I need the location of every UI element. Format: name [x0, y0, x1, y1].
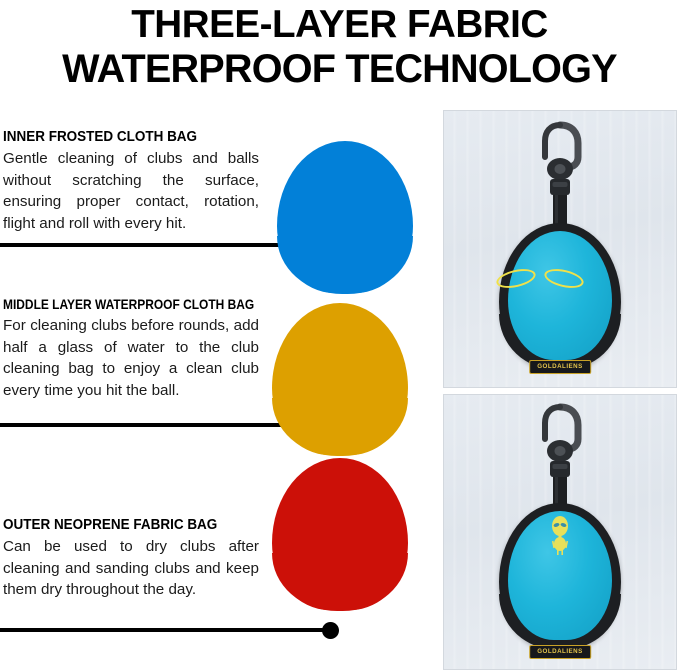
leader-line-outer	[0, 628, 326, 632]
product-front-view: GOLDALIENS	[444, 111, 676, 387]
product-back-view: GOLDALIENS	[444, 395, 676, 669]
layer-body-middle: For cleaning clubs before rounds, add ha…	[3, 315, 259, 401]
alien-bag-body-front	[499, 223, 621, 369]
page-title: THREE-LAYER FABRIC WATERPROOF TECHNOLOGY	[0, 2, 679, 92]
product-photo-back: GOLDALIENS	[443, 394, 677, 670]
layer-heading-inner: INNER FROSTED CLOTH BAG	[3, 129, 241, 146]
layer-shape-outer	[272, 458, 408, 610]
product-photo-front: GOLDALIENS	[443, 110, 677, 388]
layer-shape-middle	[272, 303, 408, 455]
brand-label-back: GOLDALIENS	[529, 645, 591, 659]
alien-emblem-icon	[547, 515, 573, 562]
layer-heading-outer: OUTER NEOPRENE FABRIC BAG	[3, 517, 241, 534]
brand-label-front: GOLDALIENS	[529, 360, 591, 374]
brand-label-text: GOLDALIENS	[537, 648, 583, 655]
title-line-1: THREE-LAYER FABRIC	[3, 2, 675, 47]
leader-line-middle	[0, 423, 300, 427]
layer-shape-inner	[277, 141, 413, 293]
carabiner-clip-icon	[530, 117, 590, 234]
layer-heading-middle: MIDDLE LAYER WATERPROOF CLOTH BAG	[3, 296, 228, 313]
layer-body-outer: Can be used to dry clubs after cleaning …	[3, 536, 259, 601]
leader-line-inner	[0, 243, 300, 247]
title-line-2: WATERPROOF TECHNOLOGY	[3, 47, 675, 92]
layer-description-inner: INNER FROSTED CLOTH BAG Gentle cleaning …	[3, 129, 259, 234]
carabiner-clip-icon	[530, 399, 590, 514]
layer-description-outer: OUTER NEOPRENE FABRIC BAG Can be used to…	[3, 517, 259, 601]
layer-description-middle: MIDDLE LAYER WATERPROOF CLOTH BAG For cl…	[3, 296, 259, 401]
infographic-page: THREE-LAYER FABRIC WATERPROOF TECHNOLOGY…	[0, 0, 679, 671]
bag-face-panel	[508, 231, 612, 360]
brand-label-text: GOLDALIENS	[537, 363, 583, 370]
layer-body-inner: Gentle cleaning of clubs and balls witho…	[3, 148, 259, 234]
leader-dot-outer	[322, 622, 339, 639]
